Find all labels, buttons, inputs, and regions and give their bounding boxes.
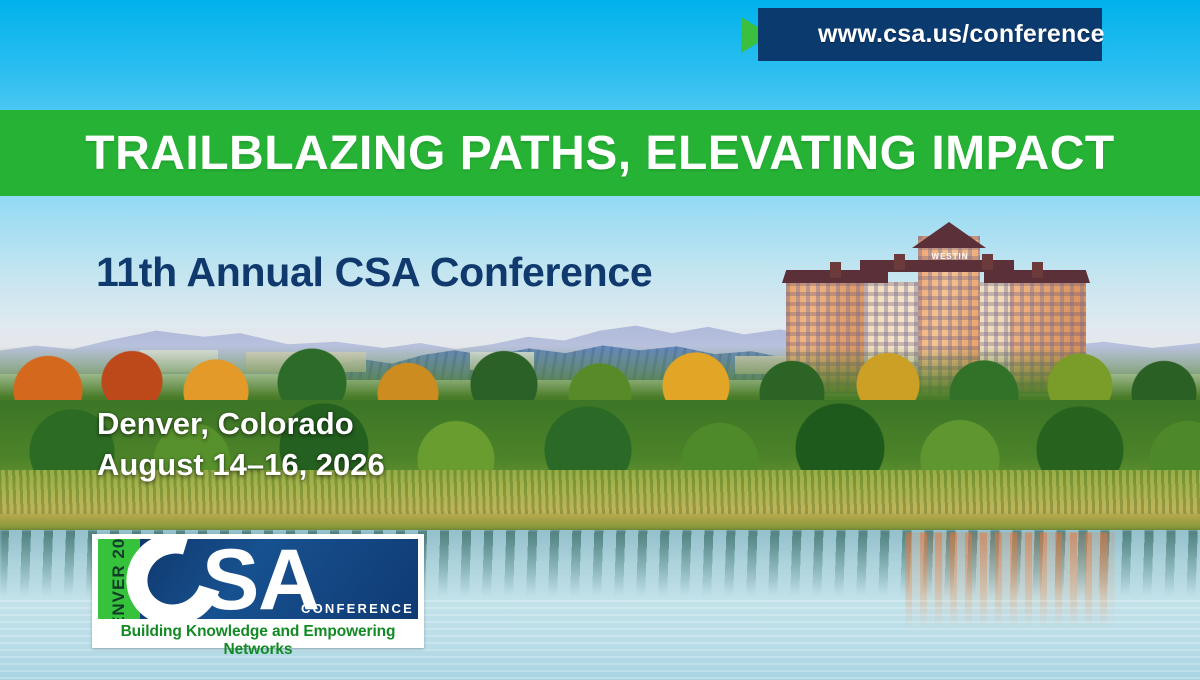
- logo-city: DENVER: [109, 564, 128, 619]
- hotel-chimney: [830, 262, 841, 278]
- hotel-sign: WESTIN: [926, 252, 974, 261]
- hotel-chimney: [894, 254, 905, 270]
- headline-band: TRAILBLAZING PATHS, ELEVATING IMPACT: [0, 110, 1200, 196]
- logo-letter-s: S: [202, 541, 259, 619]
- conference-banner: WESTIN www.csa.us/conference TRAILBLAZIN…: [0, 0, 1200, 680]
- event-subtitle: 11th Annual CSA Conference: [96, 249, 652, 296]
- logo-conference-label: CONFERENCE: [301, 601, 414, 616]
- website-url-text: www.csa.us/conference: [818, 20, 1105, 49]
- headline-text: TRAILBLAZING PATHS, ELEVATING IMPACT: [85, 126, 1115, 181]
- csa-conference-logo[interactable]: DENVER 2026 S A CONFERENCE Building Know…: [92, 534, 424, 648]
- hotel-chimney: [1032, 262, 1043, 278]
- event-location: Denver, Colorado: [97, 404, 385, 445]
- hotel-chimney: [982, 254, 993, 270]
- logo-mark: DENVER 2026 S A CONFERENCE: [98, 539, 418, 619]
- logo-year: 2026: [109, 539, 128, 559]
- website-url-bar[interactable]: www.csa.us/conference: [758, 8, 1102, 61]
- event-dates: August 14–16, 2026: [97, 445, 385, 486]
- event-location-dates: Denver, Colorado August 14–16, 2026: [97, 404, 385, 486]
- logo-tagline: Building Knowledge and Empowering Networ…: [98, 619, 418, 659]
